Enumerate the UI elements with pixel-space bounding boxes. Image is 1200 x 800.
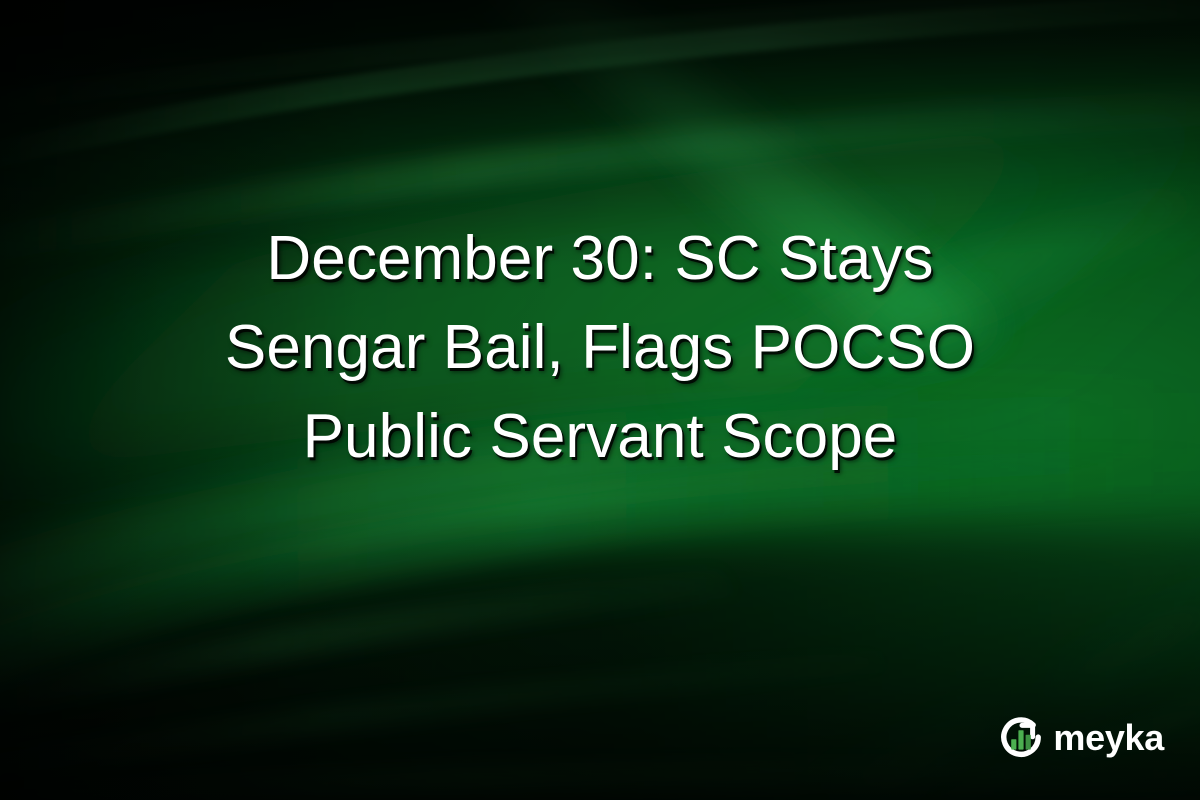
meyka-logo[interactable]: meyka	[996, 714, 1164, 764]
logo-wordmark: meyka	[1053, 720, 1164, 759]
meyka-bar-chart-ring-icon	[996, 714, 1046, 764]
headline-line-1: December 30: SC Stays	[64, 214, 1136, 303]
headline-line-3: Public Servant Scope	[64, 392, 1136, 481]
news-banner-card: December 30: SC Stays Sengar Bail, Flags…	[0, 0, 1200, 800]
page-title: December 30: SC Stays Sengar Bail, Flags…	[0, 214, 1200, 481]
headline-line-2: Sengar Bail, Flags POCSO	[64, 303, 1136, 392]
